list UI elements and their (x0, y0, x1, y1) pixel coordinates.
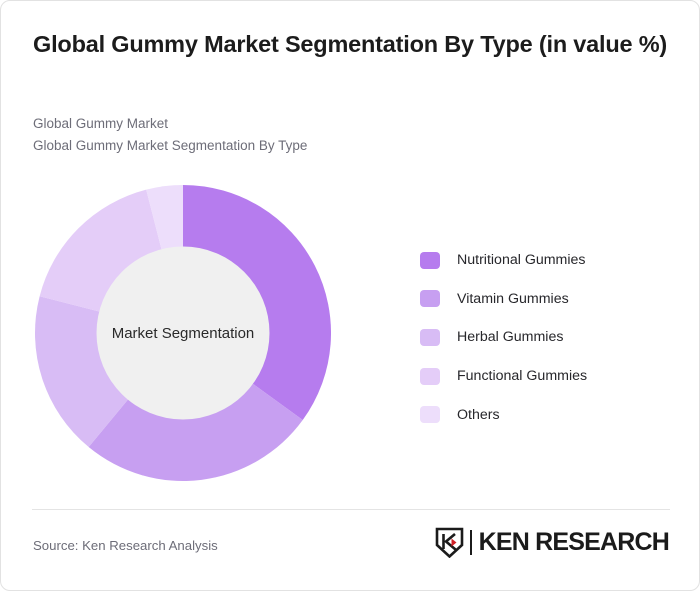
legend-label: Nutritional Gummies (457, 252, 586, 268)
chart-card: Global Gummy Market Segmentation By Type… (0, 0, 700, 591)
legend-swatch-icon (420, 406, 440, 423)
donut-hole (97, 247, 270, 420)
ken-research-hexagon-k-icon (435, 526, 464, 558)
logo-wordmark: KEN RESEARCH (479, 528, 669, 557)
footer-divider (32, 509, 670, 510)
logo-separator (470, 530, 472, 555)
legend-swatch-icon (420, 368, 440, 385)
legend-item[interactable]: Functional Gummies (420, 357, 587, 396)
legend-item[interactable]: Vitamin Gummies (420, 280, 587, 319)
legend-item[interactable]: Nutritional Gummies (420, 241, 587, 280)
subtitle-market: Global Gummy Market (33, 113, 307, 135)
brand-logo: KEN RESEARCH (435, 525, 669, 559)
legend-label: Vitamin Gummies (457, 291, 569, 307)
legend-label: Others (457, 407, 500, 423)
donut-wrap: Market Segmentation (35, 185, 331, 481)
legend-label: Functional Gummies (457, 368, 587, 384)
donut-svg (35, 185, 331, 481)
subtitle-segmentation: Global Gummy Market Segmentation By Type (33, 135, 307, 157)
chart-legend: Nutritional GummiesVitamin GummiesHerbal… (420, 241, 587, 434)
legend-swatch-icon (420, 252, 440, 269)
subtitle-block: Global Gummy Market Global Gummy Market … (33, 113, 307, 157)
legend-swatch-icon (420, 290, 440, 307)
donut-chart: Market Segmentation (1, 167, 411, 497)
page-title: Global Gummy Market Segmentation By Type… (33, 29, 669, 60)
source-note: Source: Ken Research Analysis (33, 538, 218, 553)
legend-item[interactable]: Others (420, 395, 587, 434)
legend-swatch-icon (420, 329, 440, 346)
legend-item[interactable]: Herbal Gummies (420, 318, 587, 357)
legend-label: Herbal Gummies (457, 329, 563, 345)
